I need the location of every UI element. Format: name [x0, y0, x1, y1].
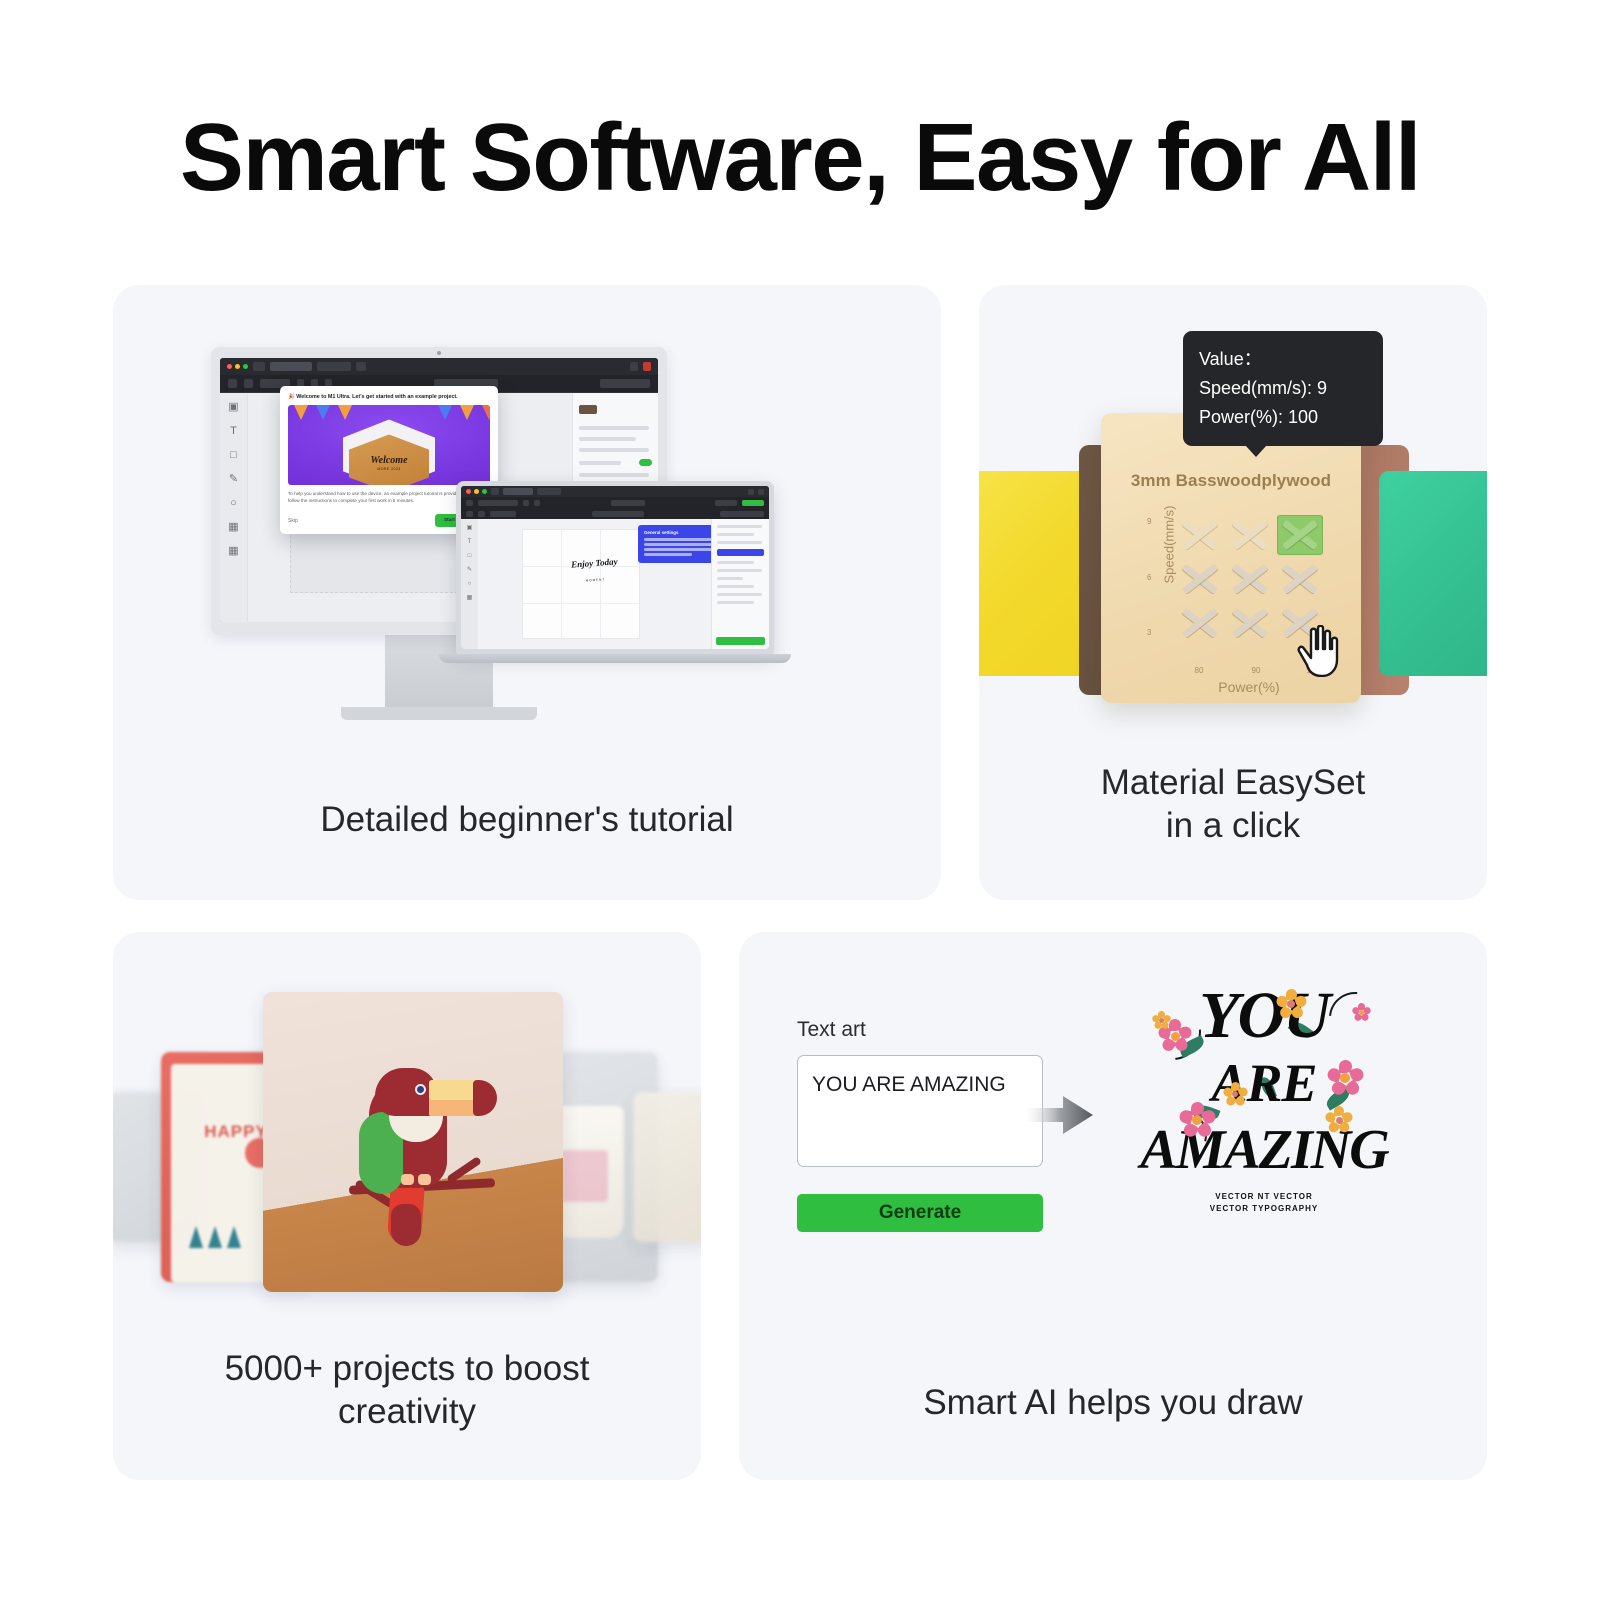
close-icon[interactable] — [758, 489, 764, 495]
laptop-workspace: ▣ T □ ✎ ○ ▦ Enjoy — [461, 519, 769, 649]
panel-button[interactable] — [490, 511, 516, 517]
grid-cell[interactable] — [1177, 559, 1223, 599]
traffic-lights-icon[interactable] — [227, 364, 248, 369]
trees-shape — [189, 1226, 241, 1248]
frame-icon[interactable] — [478, 511, 485, 517]
toucan-tail-inner — [391, 1204, 421, 1246]
user-defined-material-button[interactable] — [720, 511, 764, 517]
skip-button[interactable]: Skip — [288, 518, 298, 524]
hexagon-plaque: Welcome MORE 2024 — [343, 419, 435, 485]
panel-row — [579, 426, 649, 430]
laptop-screen: ▣ T □ ✎ ○ ▦ Enjoy — [461, 486, 769, 649]
toucan-feet — [401, 1174, 431, 1185]
y-axis-ticks: 9 6 3 — [1147, 517, 1151, 637]
artwork-footer-line-2: VECTOR TYPOGRAPHY — [1139, 1203, 1389, 1215]
tool-sidebar[interactable]: ▣ T □ ✎ ○ ▦ ▦ — [220, 393, 248, 622]
device-status[interactable] — [611, 500, 645, 506]
project-photo-cookie-plate[interactable] — [633, 1092, 701, 1242]
toucan-head — [375, 1068, 437, 1116]
tool-icon[interactable] — [466, 511, 473, 517]
traffic-lights-icon[interactable] — [466, 489, 487, 494]
party-popper-icon: 🎉 — [288, 394, 295, 400]
card-detailed-tutorial[interactable]: ▣ T □ ✎ ○ ▦ ▦ — [113, 285, 941, 900]
dialog-title: 🎉 Welcome to M1 Ultra. Let's get started… — [288, 394, 490, 400]
grid-icon[interactable]: ▦ — [467, 595, 473, 601]
shapes-group-icon[interactable]: ○ — [230, 498, 237, 509]
toucan-eye — [415, 1084, 426, 1095]
caption-line-1: Material EasySet — [979, 761, 1487, 805]
project-photo-carousel[interactable]: HAPPY — [113, 974, 701, 1304]
monitor-base — [341, 707, 537, 720]
image-icon[interactable]: ▣ — [228, 402, 238, 413]
material-swatch — [579, 405, 597, 414]
card-caption: Detailed beginner's tutorial — [113, 798, 941, 842]
panel-row — [717, 541, 762, 544]
tooltip-power: Power(%): 100 — [1199, 403, 1367, 432]
tooltip-value-label: Value： — [1199, 345, 1367, 374]
panel-row — [717, 533, 754, 536]
x-axis-label: Power(%) — [1163, 679, 1335, 695]
dialog-banner-image: Welcome MORE 2024 — [288, 405, 490, 485]
feature-card-grid: ▣ T □ ✎ ○ ▦ ▦ — [113, 285, 1487, 1480]
panel-row — [717, 577, 743, 580]
panel-row — [579, 448, 649, 452]
panel-primary-button[interactable] — [717, 549, 764, 556]
grid-icon[interactable]: ▦ — [228, 546, 238, 557]
material-swatch-stack: 3mm Basswoodplywood Speed(mm/s) 9 6 3 — [979, 393, 1487, 753]
right-arrow-icon — [1017, 1092, 1097, 1138]
user-defined-material-button[interactable] — [600, 379, 650, 388]
text-art-form: Text art Generate — [797, 1018, 1043, 1232]
panel-row — [579, 473, 649, 477]
pen-icon[interactable]: ✎ — [229, 474, 238, 485]
grid-cell[interactable] — [1227, 559, 1273, 599]
tab-project[interactable] — [537, 488, 561, 495]
y-tick: 6 — [1147, 573, 1151, 582]
card-caption: 5000+ projects to boost creativity — [113, 1347, 701, 1435]
panel-row — [717, 593, 762, 596]
marketing-page: Smart Software, Easy for All — [0, 0, 1600, 1600]
panel-row — [717, 585, 754, 588]
minimize-icon[interactable] — [748, 489, 754, 495]
monitor-camera-dot — [437, 351, 441, 355]
laptop-device: ▣ T □ ✎ ○ ▦ Enjoy — [456, 481, 774, 663]
tooltip-speed: Speed(mm/s): 9 — [1199, 374, 1367, 403]
card-row-top: ▣ T □ ✎ ○ ▦ ▦ — [113, 285, 1487, 900]
notification-icon[interactable] — [630, 362, 638, 371]
y-tick: 9 — [1147, 517, 1151, 526]
frame-tool-icon[interactable]: ▦ — [228, 522, 238, 533]
grid-cell[interactable] — [1277, 559, 1323, 599]
shape-icon[interactable]: □ — [230, 450, 237, 461]
caption-line-2: in a click — [979, 804, 1487, 848]
menu-icon[interactable] — [491, 488, 499, 495]
x-tick: 80 — [1177, 666, 1221, 675]
card-row-bottom: HAPPY — [113, 932, 1487, 1480]
laptop-base — [439, 654, 791, 663]
window-titlebar — [220, 358, 658, 375]
frame-icon[interactable] — [244, 379, 253, 388]
caption-line-2: creativity — [113, 1390, 701, 1434]
x-mark-grid — [1177, 515, 1323, 643]
grid-cell-selected[interactable] — [1277, 515, 1323, 555]
caption-line-1: 5000+ projects to boost — [113, 1347, 701, 1391]
laptop-toolbar-1 — [461, 497, 769, 508]
card-caption: Smart AI helps you draw — [739, 1381, 1487, 1425]
redo-icon[interactable] — [534, 500, 540, 506]
panel-row — [717, 525, 762, 528]
x-tick: 90 — [1234, 666, 1278, 675]
hand-cursor-icon — [1297, 625, 1341, 677]
artwork-line-3: AMAZING — [1139, 1118, 1389, 1182]
grid-cell[interactable] — [1227, 603, 1273, 643]
material-name-label: 3mm Basswoodplywood — [1101, 471, 1361, 491]
undo-icon[interactable] — [523, 500, 529, 506]
y-axis-label: Speed(mm/s) — [1162, 495, 1177, 595]
panel-action-button[interactable] — [716, 637, 765, 645]
text-icon[interactable]: T — [230, 426, 237, 437]
laptop-tool-sidebar[interactable]: ▣ T □ ✎ ○ ▦ — [461, 519, 478, 649]
menu-icon[interactable] — [253, 362, 265, 371]
text-icon[interactable]: T — [468, 539, 472, 545]
connect-green-button[interactable] — [742, 500, 764, 506]
pen-icon[interactable]: ✎ — [467, 567, 472, 573]
generate-button[interactable]: Generate — [797, 1194, 1043, 1232]
image-icon[interactable]: ▣ — [467, 525, 473, 531]
text-art-label: Text art — [797, 1018, 1043, 1042]
y-tick: 3 — [1147, 628, 1151, 637]
panel-row — [717, 561, 754, 564]
laptop-titlebar — [461, 486, 769, 497]
circle-icon[interactable]: ○ — [468, 581, 472, 587]
laptop-toolbar-2 — [461, 508, 769, 519]
account-icon[interactable] — [643, 362, 651, 371]
transform-icon[interactable] — [228, 379, 237, 388]
document-name[interactable] — [592, 511, 644, 517]
panel-toggle[interactable] — [639, 459, 652, 466]
card-material-easyset[interactable]: 3mm Basswoodplywood Speed(mm/s) 9 6 3 — [979, 285, 1487, 900]
laptop-settings-panel[interactable] — [711, 519, 769, 649]
tab-active[interactable] — [503, 488, 533, 495]
grid-cell[interactable] — [1177, 515, 1223, 555]
toucan-beak-tip — [473, 1080, 497, 1116]
card-projects-library[interactable]: HAPPY — [113, 932, 701, 1480]
tooltip-arrow — [1245, 445, 1267, 457]
transform-icon[interactable] — [466, 500, 473, 506]
swatch-teal-acrylic[interactable] — [1379, 471, 1487, 676]
panel-row — [579, 437, 636, 441]
value-tooltip: Value： Speed(mm/s): 9 Power(%): 100 — [1183, 331, 1383, 446]
share-button[interactable] — [715, 500, 737, 506]
toucan-artwork — [345, 1054, 495, 1239]
material-header — [579, 400, 652, 418]
card-caption: Material EasySet in a click — [979, 761, 1487, 849]
tab-add-icon[interactable] — [356, 362, 366, 371]
laptop-canvas[interactable]: Enjoy Today MOMENT General settings — [478, 519, 711, 649]
grid-cell[interactable] — [1177, 603, 1223, 643]
text-art-input[interactable] — [797, 1055, 1043, 1167]
grid-cell[interactable] — [1227, 515, 1273, 555]
tab-active[interactable] — [270, 362, 312, 371]
generated-text-artwork: YOU ARE AMAZING — [1139, 960, 1389, 1225]
laptop-lid: ▣ T □ ✎ ○ ▦ Enjoy — [456, 481, 774, 654]
card-smart-ai[interactable]: Text art Generate — [739, 932, 1487, 1480]
shape-icon[interactable]: □ — [468, 553, 472, 559]
artwork-footer: VECTOR NT VECTOR VECTOR TYPOGRAPHY — [1139, 1191, 1389, 1215]
connect-button[interactable] — [478, 500, 518, 506]
project-photo-toucan-wood-craft[interactable] — [263, 992, 563, 1292]
artwork-footer-line-1: VECTOR NT VECTOR — [1139, 1191, 1389, 1203]
panel-row — [717, 569, 762, 572]
panel-row — [717, 601, 754, 604]
page-title: Smart Software, Easy for All — [0, 0, 1600, 206]
canvas-text-art: Enjoy Today MOMENT — [570, 557, 618, 587]
tab-project[interactable] — [317, 362, 351, 371]
